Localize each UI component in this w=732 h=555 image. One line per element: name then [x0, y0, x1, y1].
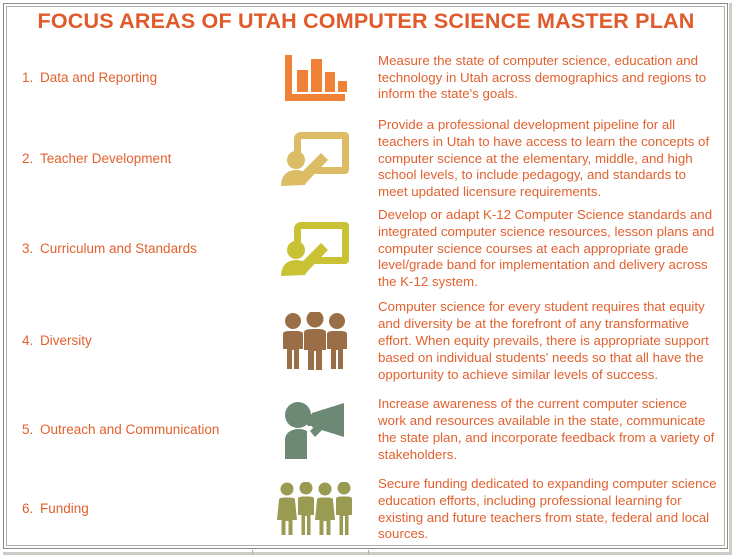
- focus-area-label-1: 1.Data and Reporting: [10, 70, 260, 86]
- focus-area-description-4: Computer science for every student requi…: [370, 299, 722, 383]
- focus-area-number-4: 4.: [22, 333, 40, 349]
- focus-area-number-5: 5.: [22, 422, 40, 438]
- focus-area-number-2: 2.: [22, 151, 40, 167]
- megaphone-person-icon: [260, 399, 370, 461]
- focus-area-description-6: Secure funding dedicated to expanding co…: [370, 476, 722, 544]
- focus-area-description-2: Provide a professional development pipel…: [370, 117, 722, 201]
- bottom-tick-mark: [368, 550, 369, 555]
- focus-area-description-1: Measure the state of computer science, e…: [370, 53, 722, 104]
- infographic-poster: FOCUS AREAS OF UTAH COMPUTER SCIENCE MAS…: [0, 0, 732, 555]
- focus-area-row: 1.Data and Reporting Measure the state o…: [10, 42, 722, 114]
- focus-area-title-5: Outreach and Communication: [40, 422, 219, 437]
- three-people-icon: [260, 312, 370, 372]
- bottom-tick-mark: [252, 550, 253, 555]
- focus-area-label-4: 4.Diversity: [10, 333, 260, 349]
- focus-area-row: 6.Funding Secure funding dedi: [10, 471, 722, 548]
- focus-area-row: 4.Diversity Computer science for every s…: [10, 294, 722, 389]
- focus-area-title-3: Curriculum and Standards: [40, 241, 197, 256]
- focus-area-title-1: Data and Reporting: [40, 70, 157, 85]
- teacher-whiteboard-icon: [260, 218, 370, 280]
- focus-area-number-3: 3.: [22, 241, 40, 257]
- focus-area-label-6: 6.Funding: [10, 501, 260, 517]
- focus-area-list: 1.Data and Reporting Measure the state o…: [10, 42, 722, 548]
- focus-area-description-3: Develop or adapt K-12 Computer Science s…: [370, 207, 722, 291]
- focus-area-row: 2.Teacher Development Provide a professi…: [10, 114, 722, 204]
- bar-chart-icon: [260, 53, 370, 103]
- focus-area-description-5: Increase awareness of the current comput…: [370, 396, 722, 464]
- focus-area-label-2: 2.Teacher Development: [10, 151, 260, 167]
- four-people-icon: [260, 482, 370, 538]
- focus-area-row: 5.Outreach and Communication Increase aw…: [10, 389, 722, 471]
- focus-area-number-1: 1.: [22, 70, 40, 86]
- focus-area-title-6: Funding: [40, 501, 89, 516]
- focus-area-number-6: 6.: [22, 501, 40, 517]
- page-title: FOCUS AREAS OF UTAH COMPUTER SCIENCE MAS…: [0, 9, 732, 34]
- focus-area-title-4: Diversity: [40, 333, 92, 348]
- focus-area-label-5: 5.Outreach and Communication: [10, 422, 260, 438]
- focus-area-title-2: Teacher Development: [40, 151, 171, 166]
- focus-area-label-3: 3.Curriculum and Standards: [10, 241, 260, 257]
- teacher-whiteboard-icon: [260, 128, 370, 190]
- focus-area-row: 3.Curriculum and Standards Develop or ad…: [10, 204, 722, 294]
